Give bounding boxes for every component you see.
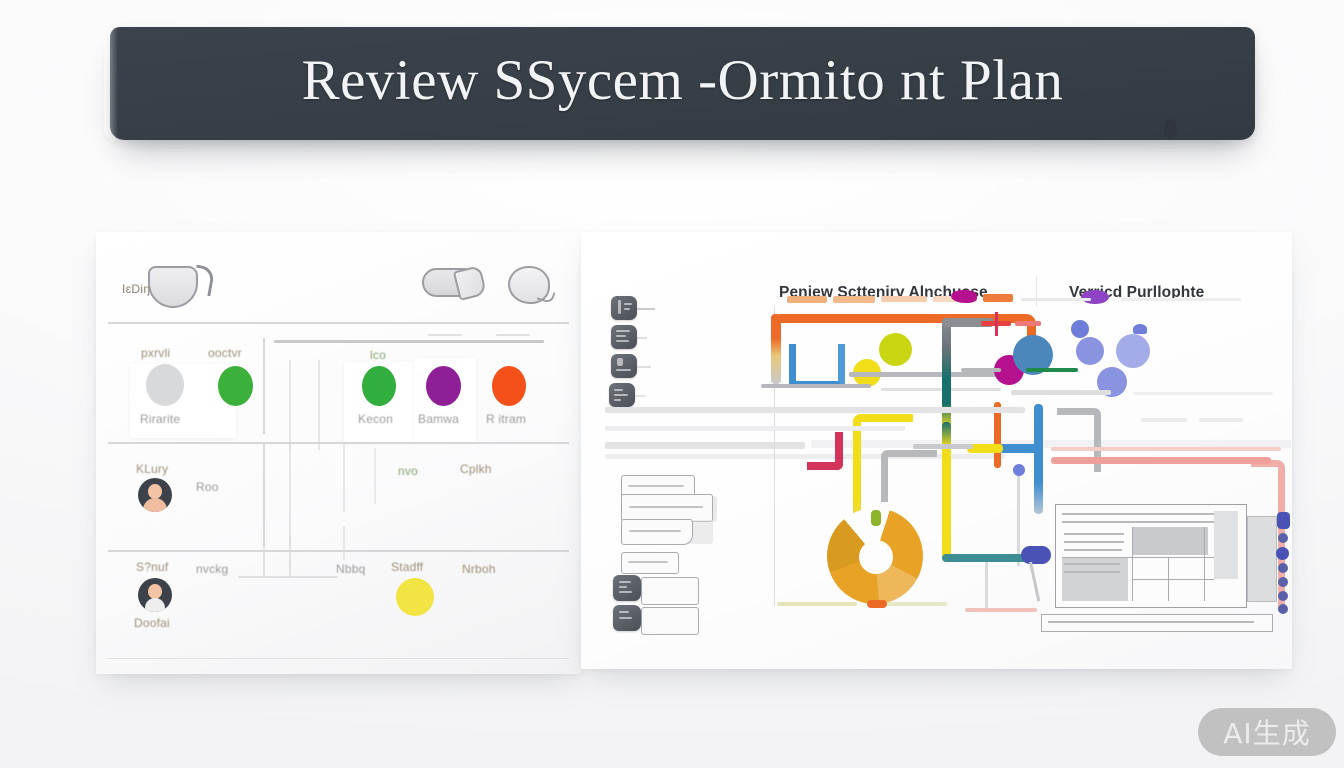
rail-salmon — [1051, 457, 1271, 464]
list-item[interactable] — [641, 577, 699, 605]
table-row[interactable]: KLury Roo nvo Cplkh — [96, 458, 581, 544]
tile-connector — [637, 337, 647, 339]
list-item[interactable] — [621, 494, 713, 522]
doc-tile-icon[interactable] — [613, 575, 641, 601]
cell-label: S?nuf — [136, 560, 168, 574]
pipe-blue-arm — [999, 444, 1043, 453]
bead — [1278, 577, 1288, 587]
rail — [913, 444, 973, 449]
pill-fold-icon — [453, 265, 487, 301]
rail — [605, 426, 905, 431]
dash-bar — [833, 296, 875, 303]
spreadsheet-side-col — [1247, 516, 1277, 602]
status-dot[interactable] — [146, 364, 184, 406]
bead — [1278, 591, 1288, 601]
header-dot-icon — [1164, 119, 1177, 139]
rail — [761, 384, 871, 388]
column-divider — [263, 442, 265, 546]
list-item[interactable] — [641, 607, 699, 635]
thin-stem — [985, 562, 988, 608]
column-divider — [263, 338, 265, 434]
thin-stem — [1017, 476, 1020, 566]
cell-label: Rirarite — [140, 412, 180, 426]
rail — [605, 407, 1025, 413]
row-accent-bar — [428, 334, 462, 336]
pipe-yellow — [942, 422, 951, 562]
pipe-blue-t — [1034, 404, 1043, 514]
cell-label: Kecon — [358, 412, 393, 426]
tile-connector — [635, 395, 645, 397]
bead — [1278, 533, 1288, 543]
cell-label: pxrvli — [141, 346, 170, 360]
table-row[interactable]: pxrvli ooctvr lco Rirarite Kecon Bamwa R… — [96, 352, 581, 442]
column-divider — [343, 442, 345, 512]
cell-label: Stadff — [391, 560, 423, 574]
sidebar-tile-icon[interactable] — [611, 325, 637, 349]
bead — [1278, 563, 1288, 573]
rail — [1141, 418, 1187, 422]
column-divider — [374, 448, 376, 504]
sidebar-tile-icon[interactable] — [609, 383, 635, 407]
status-dot[interactable] — [362, 366, 396, 406]
cell-label: KLury — [136, 462, 168, 476]
rail — [1011, 390, 1111, 395]
cell-label: R itram — [486, 412, 526, 426]
row-divider — [108, 322, 569, 324]
thin-stem — [1029, 562, 1040, 602]
column-divider — [289, 442, 291, 546]
chart-bubble — [879, 333, 912, 366]
status-dot[interactable] — [492, 366, 526, 406]
page-title: Review SSycem -Ormito nt Plan — [302, 52, 1064, 109]
right-panel: Peniew Scttenirv Alnchusse Verricd Purll… — [581, 232, 1292, 669]
pipe-teal-arm — [942, 554, 1032, 562]
dash-bar — [983, 294, 1013, 302]
cup-handle-icon — [192, 265, 216, 297]
row-divider — [108, 442, 569, 444]
cell-label: Roo — [196, 480, 219, 494]
bead — [1278, 604, 1288, 614]
cell-label: ooctvr — [208, 346, 242, 360]
list-item[interactable] — [621, 519, 693, 545]
status-dot[interactable] — [396, 578, 434, 616]
row-accent-bar — [238, 576, 338, 578]
cell-label: Nrboh — [462, 562, 496, 576]
header-bar: Review SSycem -Ormito nt Plan — [110, 27, 1255, 140]
heading-divider — [1036, 276, 1037, 306]
chart-bubble — [1133, 324, 1147, 334]
column-divider — [343, 526, 345, 560]
avatar[interactable] — [138, 478, 172, 512]
tile-connector — [637, 366, 651, 368]
sidebar-tile-icon[interactable] — [611, 354, 637, 378]
sidebar-tile-icon[interactable] — [611, 296, 637, 320]
dash-bar — [1121, 298, 1241, 301]
pipe-gray — [881, 450, 937, 502]
donut-base-marker — [867, 600, 887, 608]
cell-label: nvckg — [196, 562, 228, 576]
chart-bubble — [1116, 334, 1150, 368]
rail — [965, 608, 1037, 612]
column-divider — [289, 536, 291, 578]
column-divider — [263, 536, 265, 578]
spreadsheet-mock[interactable] — [1055, 504, 1247, 608]
bead — [1276, 547, 1289, 560]
rail — [849, 372, 999, 377]
rail — [1133, 392, 1273, 395]
chart-bubble — [1076, 337, 1104, 365]
rail — [887, 602, 947, 606]
cell-label: lco — [370, 348, 386, 362]
row-divider — [108, 658, 569, 659]
donut-marker — [871, 510, 881, 526]
status-dot[interactable] — [218, 366, 253, 406]
row-divider — [108, 550, 569, 552]
donut-hole — [859, 540, 893, 574]
rail — [1199, 418, 1243, 422]
cell-label: Bamwa — [418, 412, 459, 426]
ai-watermark: AI生成 — [1198, 708, 1336, 756]
left-panel-toolbar — [126, 258, 563, 322]
bead — [1277, 512, 1290, 529]
spreadsheet-footer — [1041, 614, 1273, 632]
accent-tick — [995, 312, 998, 336]
column-divider — [289, 360, 291, 450]
purple-blob — [1081, 290, 1109, 304]
cell-label: Nbbq — [336, 562, 366, 576]
cup-icon[interactable] — [148, 266, 198, 308]
left-panel: IɛDiŋ pxrvli ooctvr lco Rirarite Kecon B… — [96, 232, 581, 674]
left-panel-top-label: IɛDiŋ — [122, 282, 150, 296]
bead — [1021, 546, 1051, 564]
list-item[interactable] — [621, 552, 679, 574]
accent-bar — [1015, 321, 1041, 326]
tile-connector — [637, 308, 655, 310]
row-accent-bar — [274, 340, 544, 343]
divider-band — [605, 442, 805, 449]
dash-bar — [787, 296, 827, 303]
accent-bar — [1026, 368, 1078, 372]
row-accent-bar — [496, 334, 530, 336]
pipe-orange-drop — [771, 314, 781, 384]
pipe-crimson — [807, 432, 843, 470]
dash-bar — [1021, 298, 1091, 301]
cell-label: nvo — [398, 464, 418, 478]
watermark-label: AI生成 — [1223, 712, 1310, 752]
status-dot[interactable] — [426, 366, 461, 406]
table-row[interactable]: S?nuf nvckg Nbbq Stadff Nrboh Doofai — [96, 562, 581, 652]
avatar[interactable] — [138, 578, 172, 612]
cell-label: Doofai — [134, 616, 170, 630]
magenta-blob — [951, 290, 977, 303]
pipe-blue-u — [789, 344, 845, 388]
bead — [1013, 464, 1025, 476]
dash-bar — [881, 296, 927, 302]
doc-tile-icon[interactable] — [613, 605, 641, 631]
rail — [881, 388, 1001, 391]
cell-label: Cplkh — [460, 462, 492, 476]
column-divider — [318, 360, 320, 450]
rail — [961, 368, 1001, 372]
rail — [1051, 447, 1281, 451]
rail — [777, 602, 857, 606]
chart-bubble — [1071, 320, 1089, 338]
